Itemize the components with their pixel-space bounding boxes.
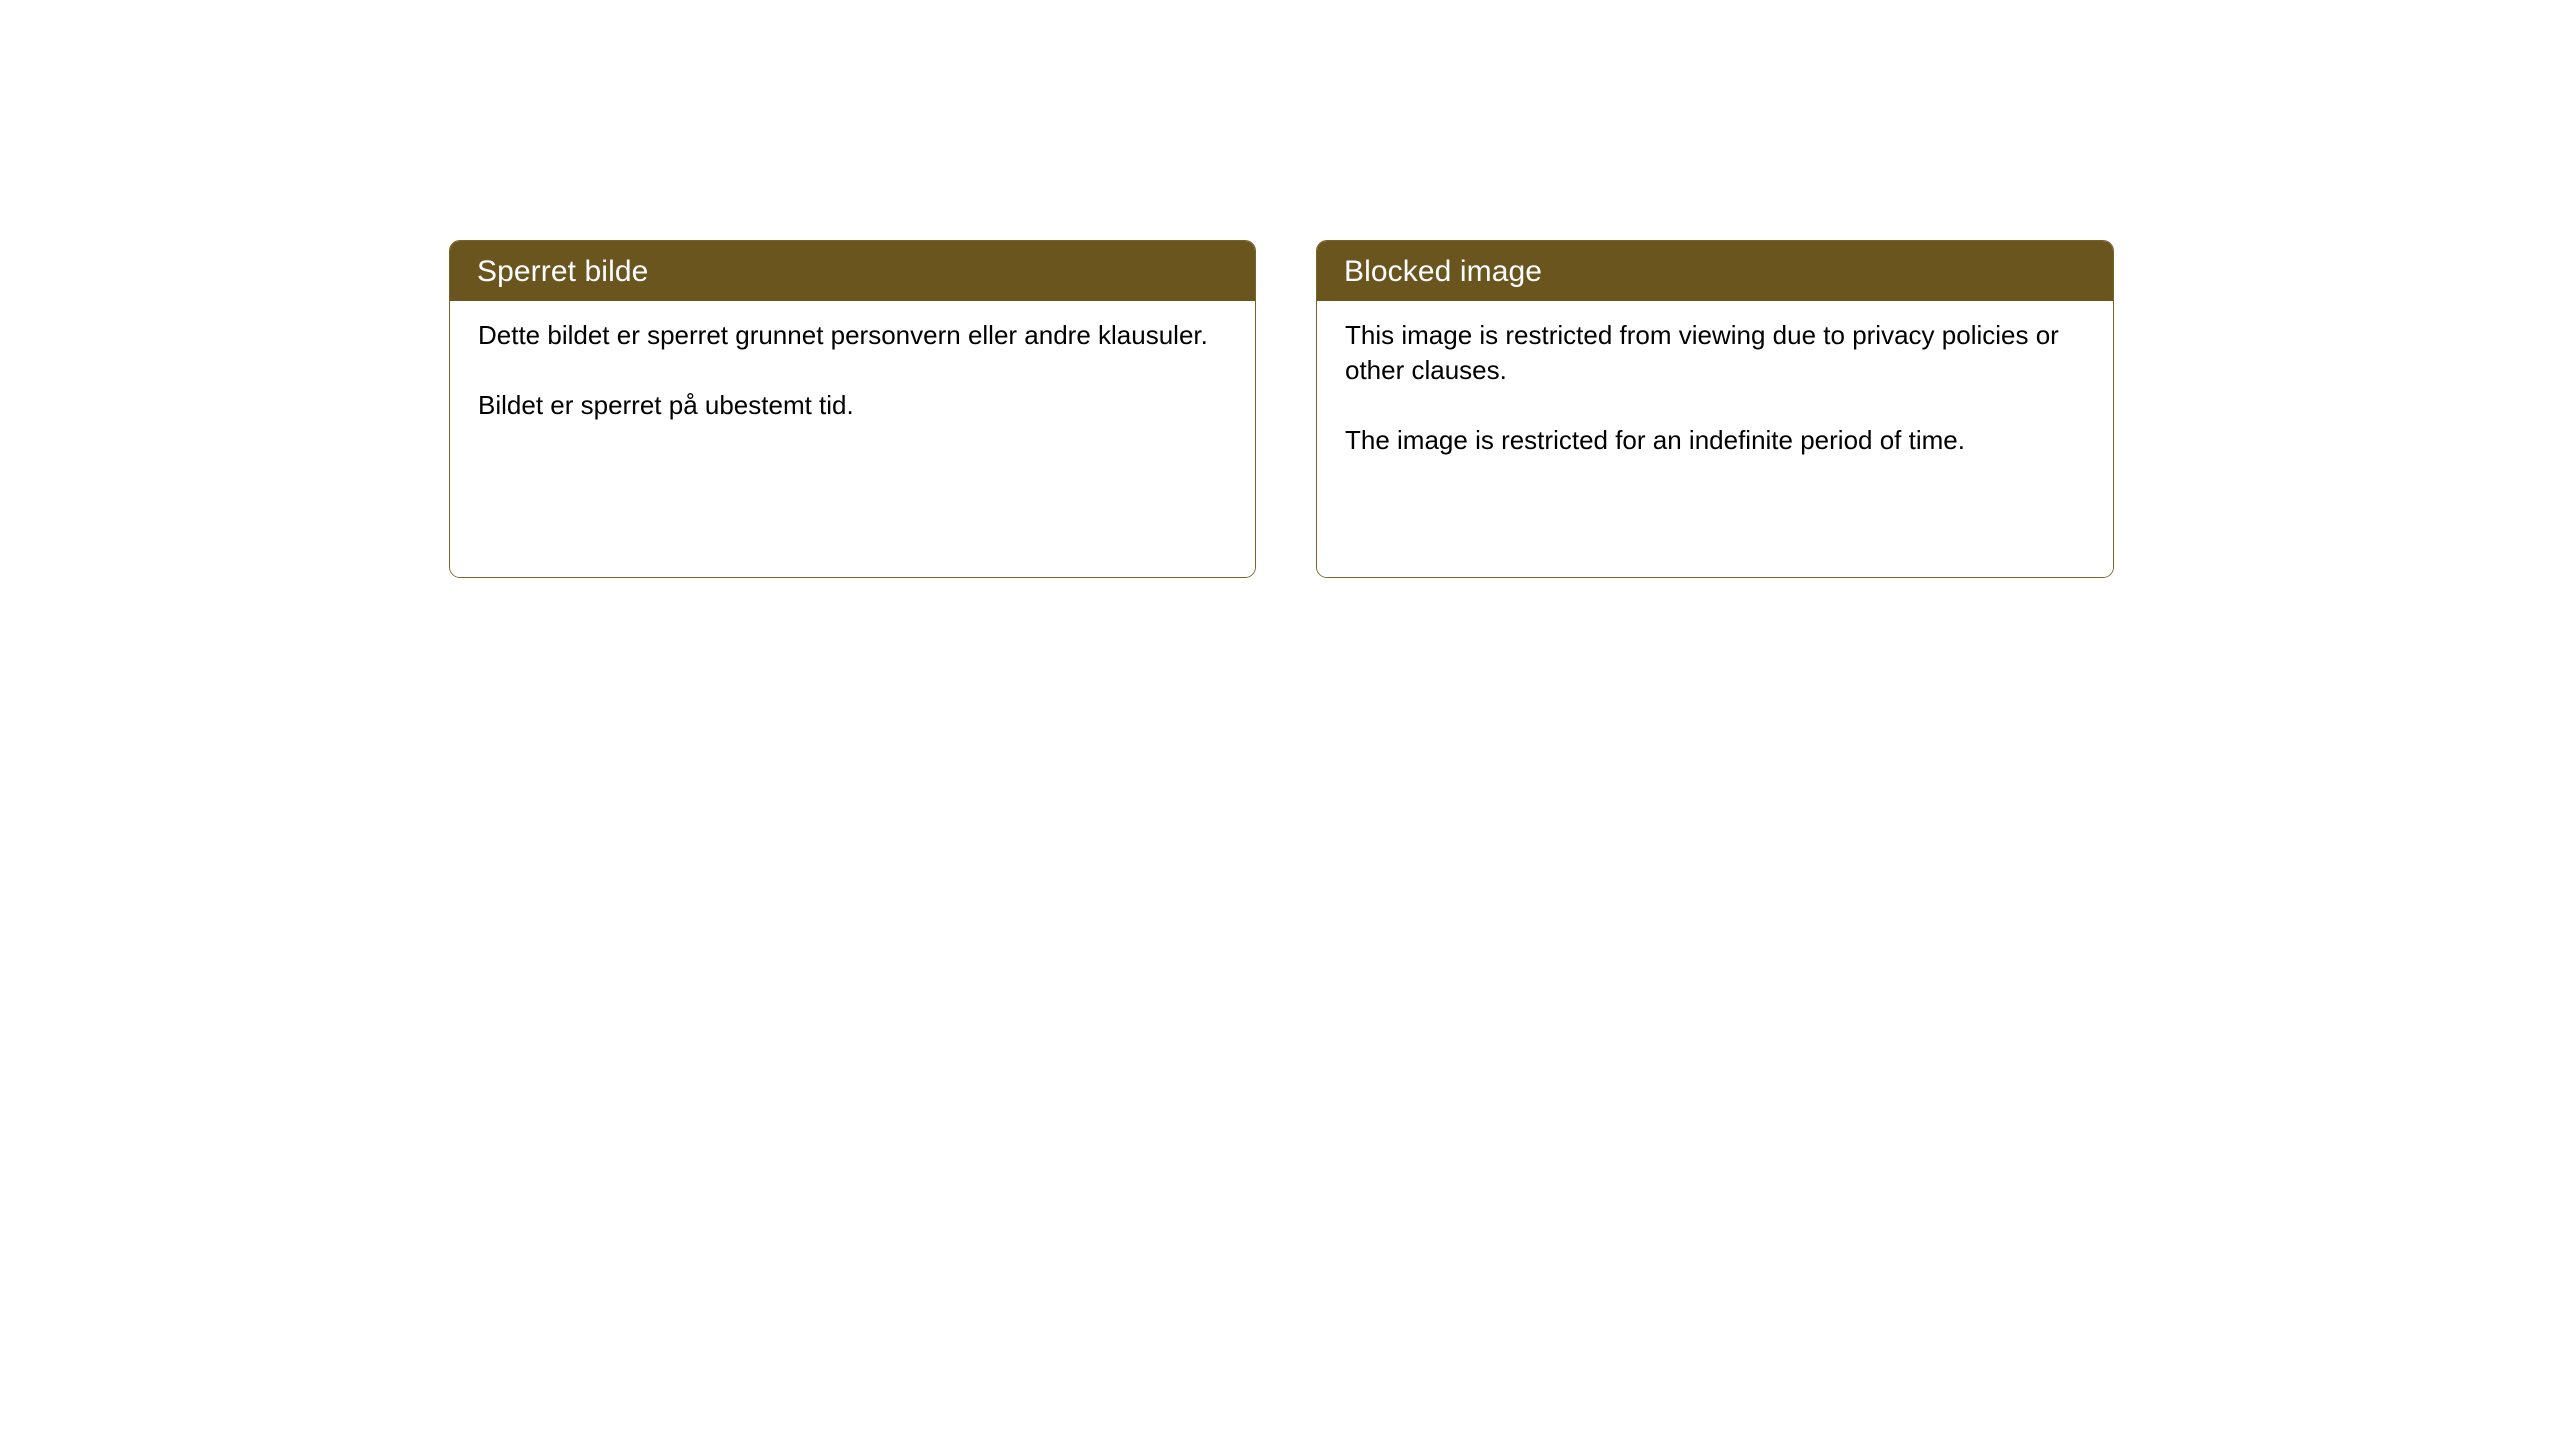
notice-paragraph-primary-en: This image is restricted from viewing du…	[1345, 318, 2087, 388]
notice-paragraph-secondary-no: Bildet er sperret på ubestemt tid.	[478, 388, 1229, 423]
card-title-no: Sperret bilde	[477, 257, 648, 287]
blocked-image-notice-card-en: Blocked image This image is restricted f…	[1316, 240, 2114, 578]
card-header-no: Sperret bilde	[449, 240, 1256, 301]
notice-paragraph-primary-no: Dette bildet er sperret grunnet personve…	[478, 318, 1229, 353]
card-title-en: Blocked image	[1344, 257, 1542, 287]
notice-cards-row: Sperret bilde Dette bildet er sperret gr…	[449, 240, 2114, 578]
card-header-en: Blocked image	[1316, 240, 2114, 301]
page-root: { "page": { "background_color": "#ffffff…	[0, 0, 2560, 1440]
notice-paragraph-secondary-en: The image is restricted for an indefinit…	[1345, 423, 2087, 458]
card-body-en: This image is restricted from viewing du…	[1317, 301, 2113, 577]
card-body-no: Dette bildet er sperret grunnet personve…	[450, 301, 1255, 577]
blocked-image-notice-card-no: Sperret bilde Dette bildet er sperret gr…	[449, 240, 1256, 578]
